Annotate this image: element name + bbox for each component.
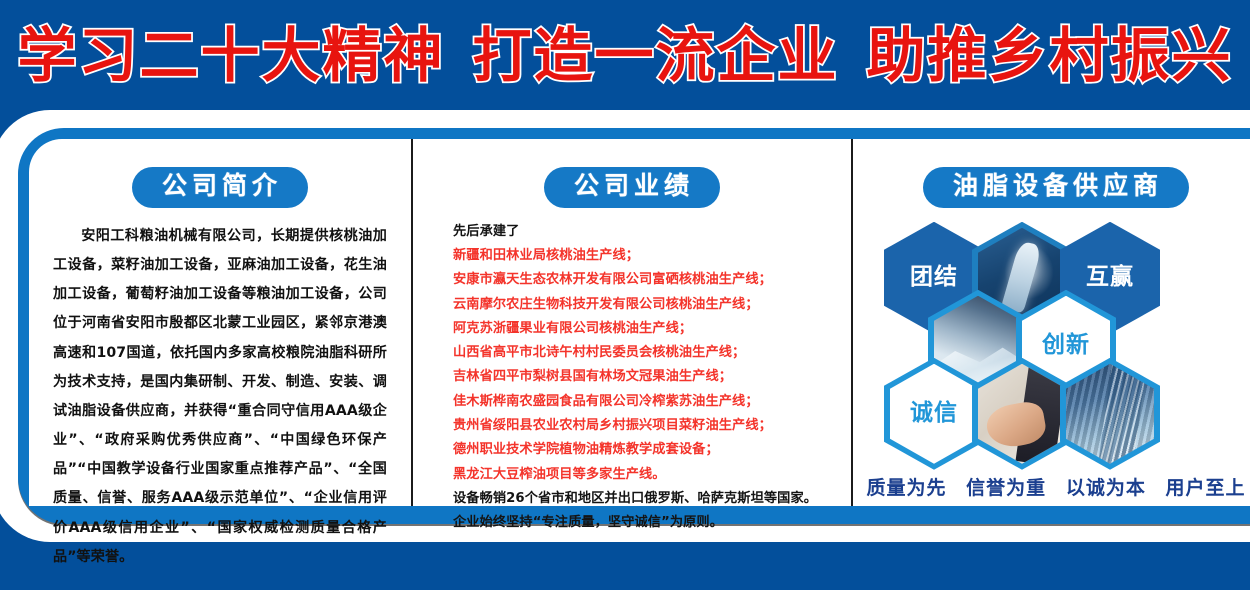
project-item: 山西省高平市北诗午村村民委员会核桃油生产线； xyxy=(453,341,833,365)
slogan-part-2: 信誉为重 xyxy=(966,477,1046,499)
achievements-footer-line: 设备畅销26个省市和地区并出口俄罗斯、哈萨克斯坦等国家。 xyxy=(453,487,833,511)
company-profile-panel: 公司简介 安阳工科粮油机械有限公司，长期提供核桃油加工设备，菜籽油加工设备，亚麻… xyxy=(29,139,411,506)
project-item: 安康市瀛天生态农林开发有限公司富硒核桃油生产线； xyxy=(453,268,833,292)
company-achievements-panel: 公司业绩 先后承建了 新疆和田林业局核桃油生产线； 安康市瀛天生态农林开发有限公… xyxy=(411,139,851,506)
handshake-artwork xyxy=(978,364,1066,464)
headline-segment-1: 学习二十大精神 xyxy=(17,21,444,90)
hex-integrity-inner: 诚信 xyxy=(890,364,978,464)
page-title: 学习二十大精神打造一流企业助推乡村振兴 xyxy=(0,26,1250,85)
project-item: 佳木斯桦南农盛园食品有限公司冷榨紫苏油生产线； xyxy=(453,390,833,414)
achievements-footer-line: 企业始终坚持“专注质量，坚守诚信”为原则。 xyxy=(453,511,833,535)
handshake-icon xyxy=(978,364,1066,464)
supplier-badge: 油脂设备供应商 xyxy=(923,167,1189,208)
skyscraper-artwork xyxy=(1066,364,1154,464)
project-item: 云南摩尔农庄生物科技开发有限公司核桃油生产线； xyxy=(453,293,833,317)
skyscraper-icon xyxy=(1066,364,1154,464)
project-item: 新疆和田林业局核桃油生产线； xyxy=(453,244,833,268)
headline-segment-2: 打造一流企业 xyxy=(472,21,838,90)
hex-label-mutual-win: 互赢 xyxy=(1086,266,1134,289)
achievements-lead: 先后承建了 xyxy=(453,220,833,244)
poster-canvas: 学习二十大精神打造一流企业助推乡村振兴 公司简介 安阳工科粮油机械有限公司，长期… xyxy=(0,0,1250,590)
company-profile-text: 安阳工科粮油机械有限公司，长期提供核桃油加工设备，菜籽油加工设备，亚麻油加工设备… xyxy=(47,222,393,572)
values-slogan: 质量为先 信誉为重 以诚为本 用户至上 xyxy=(853,473,1250,500)
project-item: 德州职业技术学院植物油精炼教学成套设备； xyxy=(453,438,833,462)
slogan-part-3: 以诚为本 xyxy=(1066,477,1146,499)
content-area: 公司简介 安阳工科粮油机械有限公司，长期提供核桃油加工设备，菜籽油加工设备，亚麻… xyxy=(28,138,1250,506)
project-item: 黑龙江大豆榨油项目等多家生产线。 xyxy=(453,463,833,487)
hex-label-innovation: 创新 xyxy=(1042,334,1090,357)
project-item: 吉林省四平市梨树县国有林场文冠果油生产线； xyxy=(453,365,833,389)
hex-label-unity: 团结 xyxy=(910,266,958,289)
headline-segment-3: 助推乡村振兴 xyxy=(867,21,1233,90)
achievements-list: 先后承建了 新疆和田林业局核桃油生产线； 安康市瀛天生态农林开发有限公司富硒核桃… xyxy=(431,220,833,536)
slogan-part-1: 质量为先 xyxy=(867,477,947,499)
supplier-values-panel: 油脂设备供应商 团结 互赢 xyxy=(851,139,1250,506)
slogan-part-4: 用户至上 xyxy=(1165,477,1245,499)
values-hexagon-grid: 团结 互赢 创新 xyxy=(872,222,1240,470)
hex-label-integrity: 诚信 xyxy=(910,402,958,425)
company-profile-badge: 公司简介 xyxy=(132,167,308,208)
project-item: 阿克苏浙疆果业有限公司核桃油生产线； xyxy=(453,317,833,341)
project-item: 贵州省绥阳县农业农村局乡村振兴项目菜籽油生产线； xyxy=(453,414,833,438)
company-achievements-badge: 公司业绩 xyxy=(544,167,720,208)
